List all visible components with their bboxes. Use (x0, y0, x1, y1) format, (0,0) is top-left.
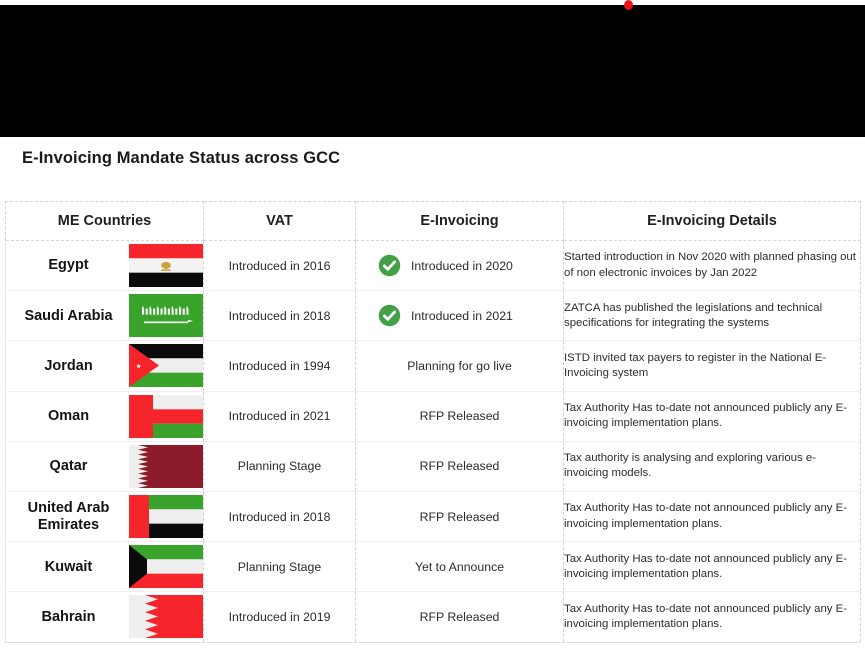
country-name: Kuwait (6, 559, 129, 575)
page-title: E-Invoicing Mandate Status across GCC (22, 149, 340, 168)
flag-slot (129, 395, 203, 438)
flag-oman-icon (129, 395, 203, 438)
table-row: KuwaitPlanning StageYet to AnnounceTax A… (6, 542, 861, 592)
table-row: Saudi ArabiaIntroduced in 2018Introduced… (6, 291, 861, 341)
country-name: Bahrain (6, 609, 129, 625)
table-row: OmanIntroduced in 2021RFP ReleasedTax Au… (6, 391, 861, 441)
einvoicing-status-cell: Introduced in 2021 (356, 291, 564, 341)
vat-status-cell: Introduced in 2021 (204, 391, 356, 441)
check-circle-icon (378, 304, 401, 327)
country-cell: Qatar (6, 441, 204, 491)
einvoicing-status-label: RFP Released (420, 510, 500, 524)
table-row: BahrainIntroduced in 2019RFP ReleasedTax… (6, 592, 861, 642)
einvoicing-details-cell: Tax Authority Has to-date not announced … (564, 592, 861, 642)
vat-status-cell: Introduced in 2018 (204, 491, 356, 541)
einvoicing-status-cell: Introduced in 2020 (356, 241, 564, 291)
flag-slot (129, 445, 203, 488)
flag-jordan-icon (129, 344, 203, 387)
einvoicing-status-label: Yet to Announce (415, 560, 504, 574)
einvoicing-details-cell: Started introduction in Nov 2020 with pl… (564, 241, 861, 291)
country-cell: Egypt (6, 241, 204, 291)
table-row: JordanIntroduced in 1994Planning for go … (6, 341, 861, 391)
country-name: Egypt (6, 257, 129, 273)
einvoicing-status-cell: Yet to Announce (356, 542, 564, 592)
einvoicing-status-cell: RFP Released (356, 592, 564, 642)
flag-bahrain-icon (129, 595, 203, 638)
table-header-row: ME Countries VAT E-Invoicing E-Invoicing… (6, 202, 861, 241)
einvoicing-status-label: Planning for go live (407, 359, 512, 373)
vat-status-cell: Planning Stage (204, 441, 356, 491)
flag-slot (129, 545, 203, 588)
country-cell: Saudi Arabia (6, 291, 204, 341)
column-header-country: ME Countries (6, 202, 204, 241)
flag-saudi-arabia-icon (129, 294, 203, 337)
flag-egypt-icon (129, 244, 203, 287)
flag-qatar-icon (129, 445, 203, 488)
einvoicing-details-cell: Tax Authority Has to-date not announced … (564, 491, 861, 541)
vat-status-cell: Planning Stage (204, 542, 356, 592)
column-header-vat: VAT (204, 202, 356, 241)
country-cell: United Arab Emirates (6, 491, 204, 541)
country-cell: Jordan (6, 341, 204, 391)
vat-status-cell: Introduced in 2019 (204, 592, 356, 642)
vat-status-cell: Introduced in 2016 (204, 241, 356, 291)
einvoicing-status-cell: Planning for go live (356, 341, 564, 391)
einvoicing-status-label: RFP Released (420, 610, 500, 624)
flag-slot (129, 244, 203, 287)
country-name: United Arab Emirates (6, 500, 129, 532)
flag-slot (129, 294, 203, 337)
einvoicing-status-cell: RFP Released (356, 441, 564, 491)
flag-slot (129, 344, 203, 387)
einvoicing-status-cell: RFP Released (356, 491, 564, 541)
flag-slot (129, 595, 203, 638)
einvoicing-details-cell: ZATCA has published the legislations and… (564, 291, 861, 341)
table-row: QatarPlanning StageRFP ReleasedTax autho… (6, 441, 861, 491)
country-name: Qatar (6, 458, 129, 474)
einvoicing-details-cell: ISTD invited tax payers to register in t… (564, 341, 861, 391)
e-invoicing-status-table: ME Countries VAT E-Invoicing E-Invoicing… (5, 201, 861, 643)
table-header: ME Countries VAT E-Invoicing E-Invoicing… (6, 202, 861, 241)
flag-kuwait-icon (129, 545, 203, 588)
einvoicing-details-cell: Tax Authority Has to-date not announced … (564, 391, 861, 441)
country-name: Jordan (6, 358, 129, 374)
red-dot-marker (624, 0, 633, 10)
einvoicing-status-cell: RFP Released (356, 391, 564, 441)
vat-status-cell: Introduced in 1994 (204, 341, 356, 391)
einvoicing-details-cell: Tax authority is analysing and exploring… (564, 441, 861, 491)
flag-slot (129, 495, 203, 538)
vat-status-cell: Introduced in 2018 (204, 291, 356, 341)
flag-united-arab-emirates-icon (129, 495, 203, 538)
country-name: Saudi Arabia (6, 308, 129, 324)
table-row: United Arab EmiratesIntroduced in 2018RF… (6, 491, 861, 541)
country-cell: Kuwait (6, 542, 204, 592)
table-row: EgyptIntroduced in 2016Introduced in 202… (6, 241, 861, 291)
einvoicing-status-label: Introduced in 2021 (411, 309, 513, 323)
country-cell: Bahrain (6, 592, 204, 642)
country-cell: Oman (6, 391, 204, 441)
einvoicing-status-label: Introduced in 2020 (411, 259, 513, 273)
top-black-band (0, 5, 865, 137)
column-header-details: E-Invoicing Details (564, 202, 861, 241)
column-header-einvoicing: E-Invoicing (356, 202, 564, 241)
table-body: EgyptIntroduced in 2016Introduced in 202… (6, 241, 861, 643)
einvoicing-status-label: RFP Released (420, 409, 500, 423)
country-name: Oman (6, 408, 129, 424)
check-circle-icon (378, 254, 401, 277)
einvoicing-status-label: RFP Released (420, 459, 500, 473)
einvoicing-details-cell: Tax Authority Has to-date not announced … (564, 542, 861, 592)
